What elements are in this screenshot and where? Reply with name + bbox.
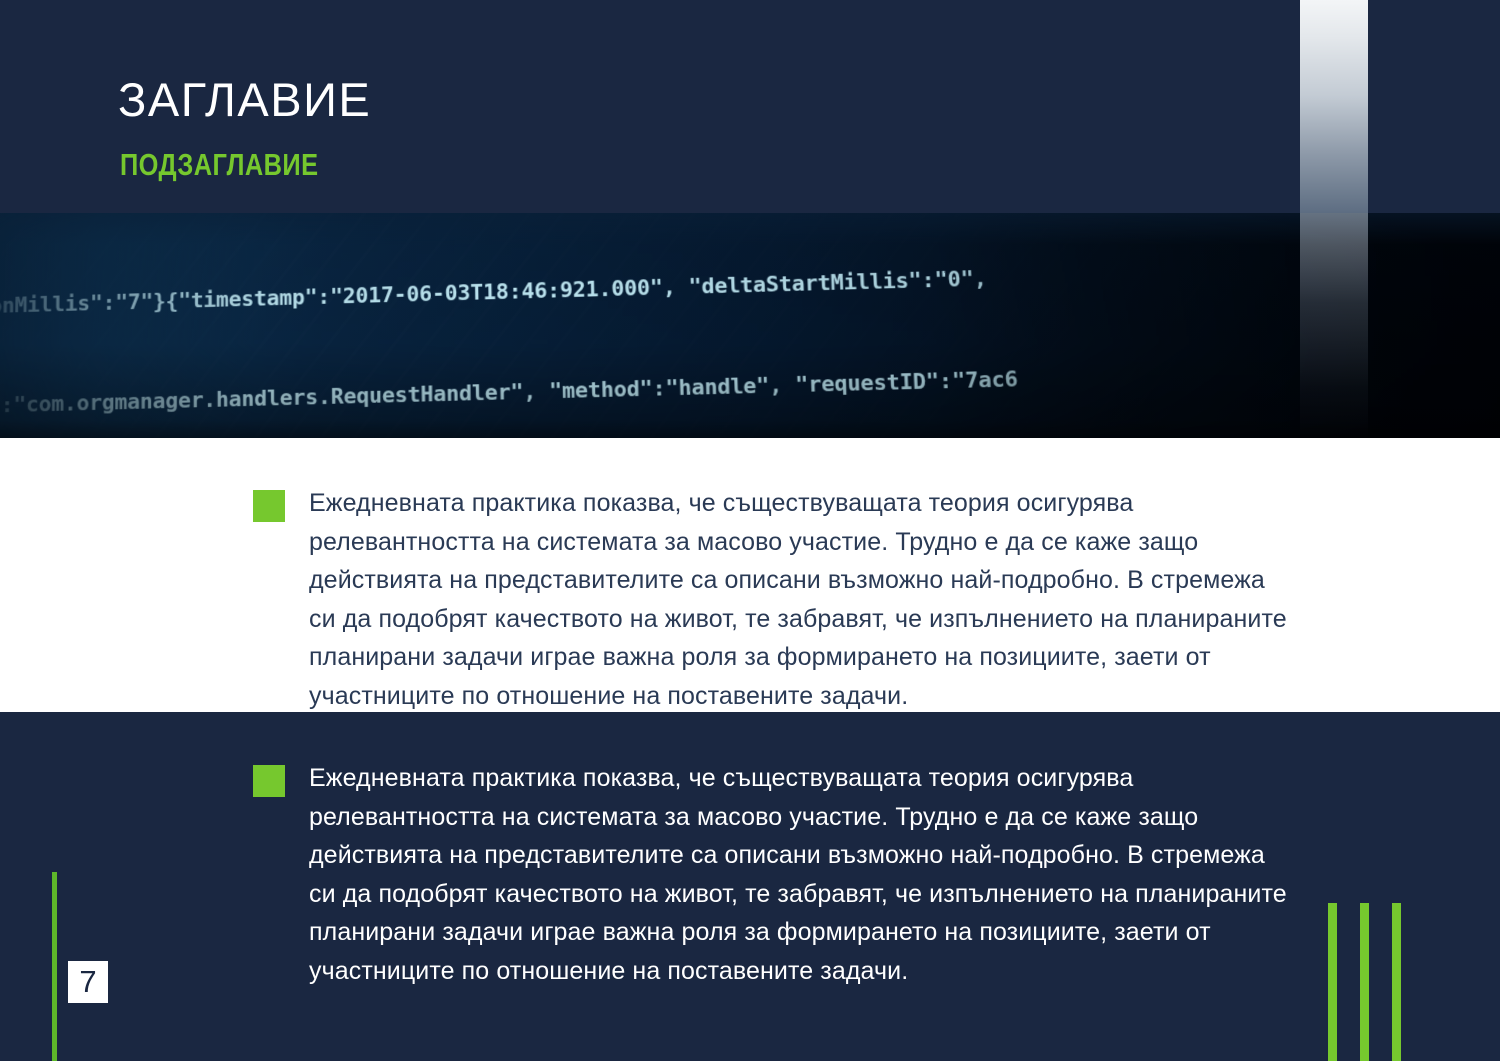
corner-bar-1 [1328, 903, 1337, 1061]
log-line: urationMillis":"7"}{"timestamp":"2017-06… [0, 242, 1500, 325]
page-number-badge: 7 [68, 961, 108, 1003]
green-square-bullet-icon [253, 490, 285, 522]
hero-log-image: urationMillis":"7"}{"timestamp":"2017-06… [0, 213, 1500, 438]
page-title: ЗАГЛАВИЕ [118, 76, 371, 123]
slide-header: ЗАГЛАВИЕ ПОДЗАГЛАВИЕ [0, 0, 1500, 213]
log-line: class":"com.orgmanager.handlers.RequestH… [0, 345, 1500, 425]
presentation-slide: urationMillis":"7"}{"timestamp":"2017-06… [0, 0, 1500, 1061]
bullet-text-light: Ежедневната практика показва, че съществ… [309, 484, 1289, 715]
header-gradient-stripe [1300, 0, 1368, 213]
page-subtitle: ПОДЗАГЛАВИЕ [120, 149, 318, 180]
log-image-text: urationMillis":"7"}{"timestamp":"2017-06… [0, 213, 1500, 438]
bullet-text-dark: Ежедневната практика показва, че съществ… [309, 759, 1289, 990]
corner-bar-3 [1392, 903, 1401, 1061]
corner-bar-2 [1360, 903, 1369, 1061]
page-number-label: 7 [79, 966, 96, 997]
footer-green-vertical-line [52, 872, 57, 1061]
green-square-bullet-icon [253, 765, 285, 797]
